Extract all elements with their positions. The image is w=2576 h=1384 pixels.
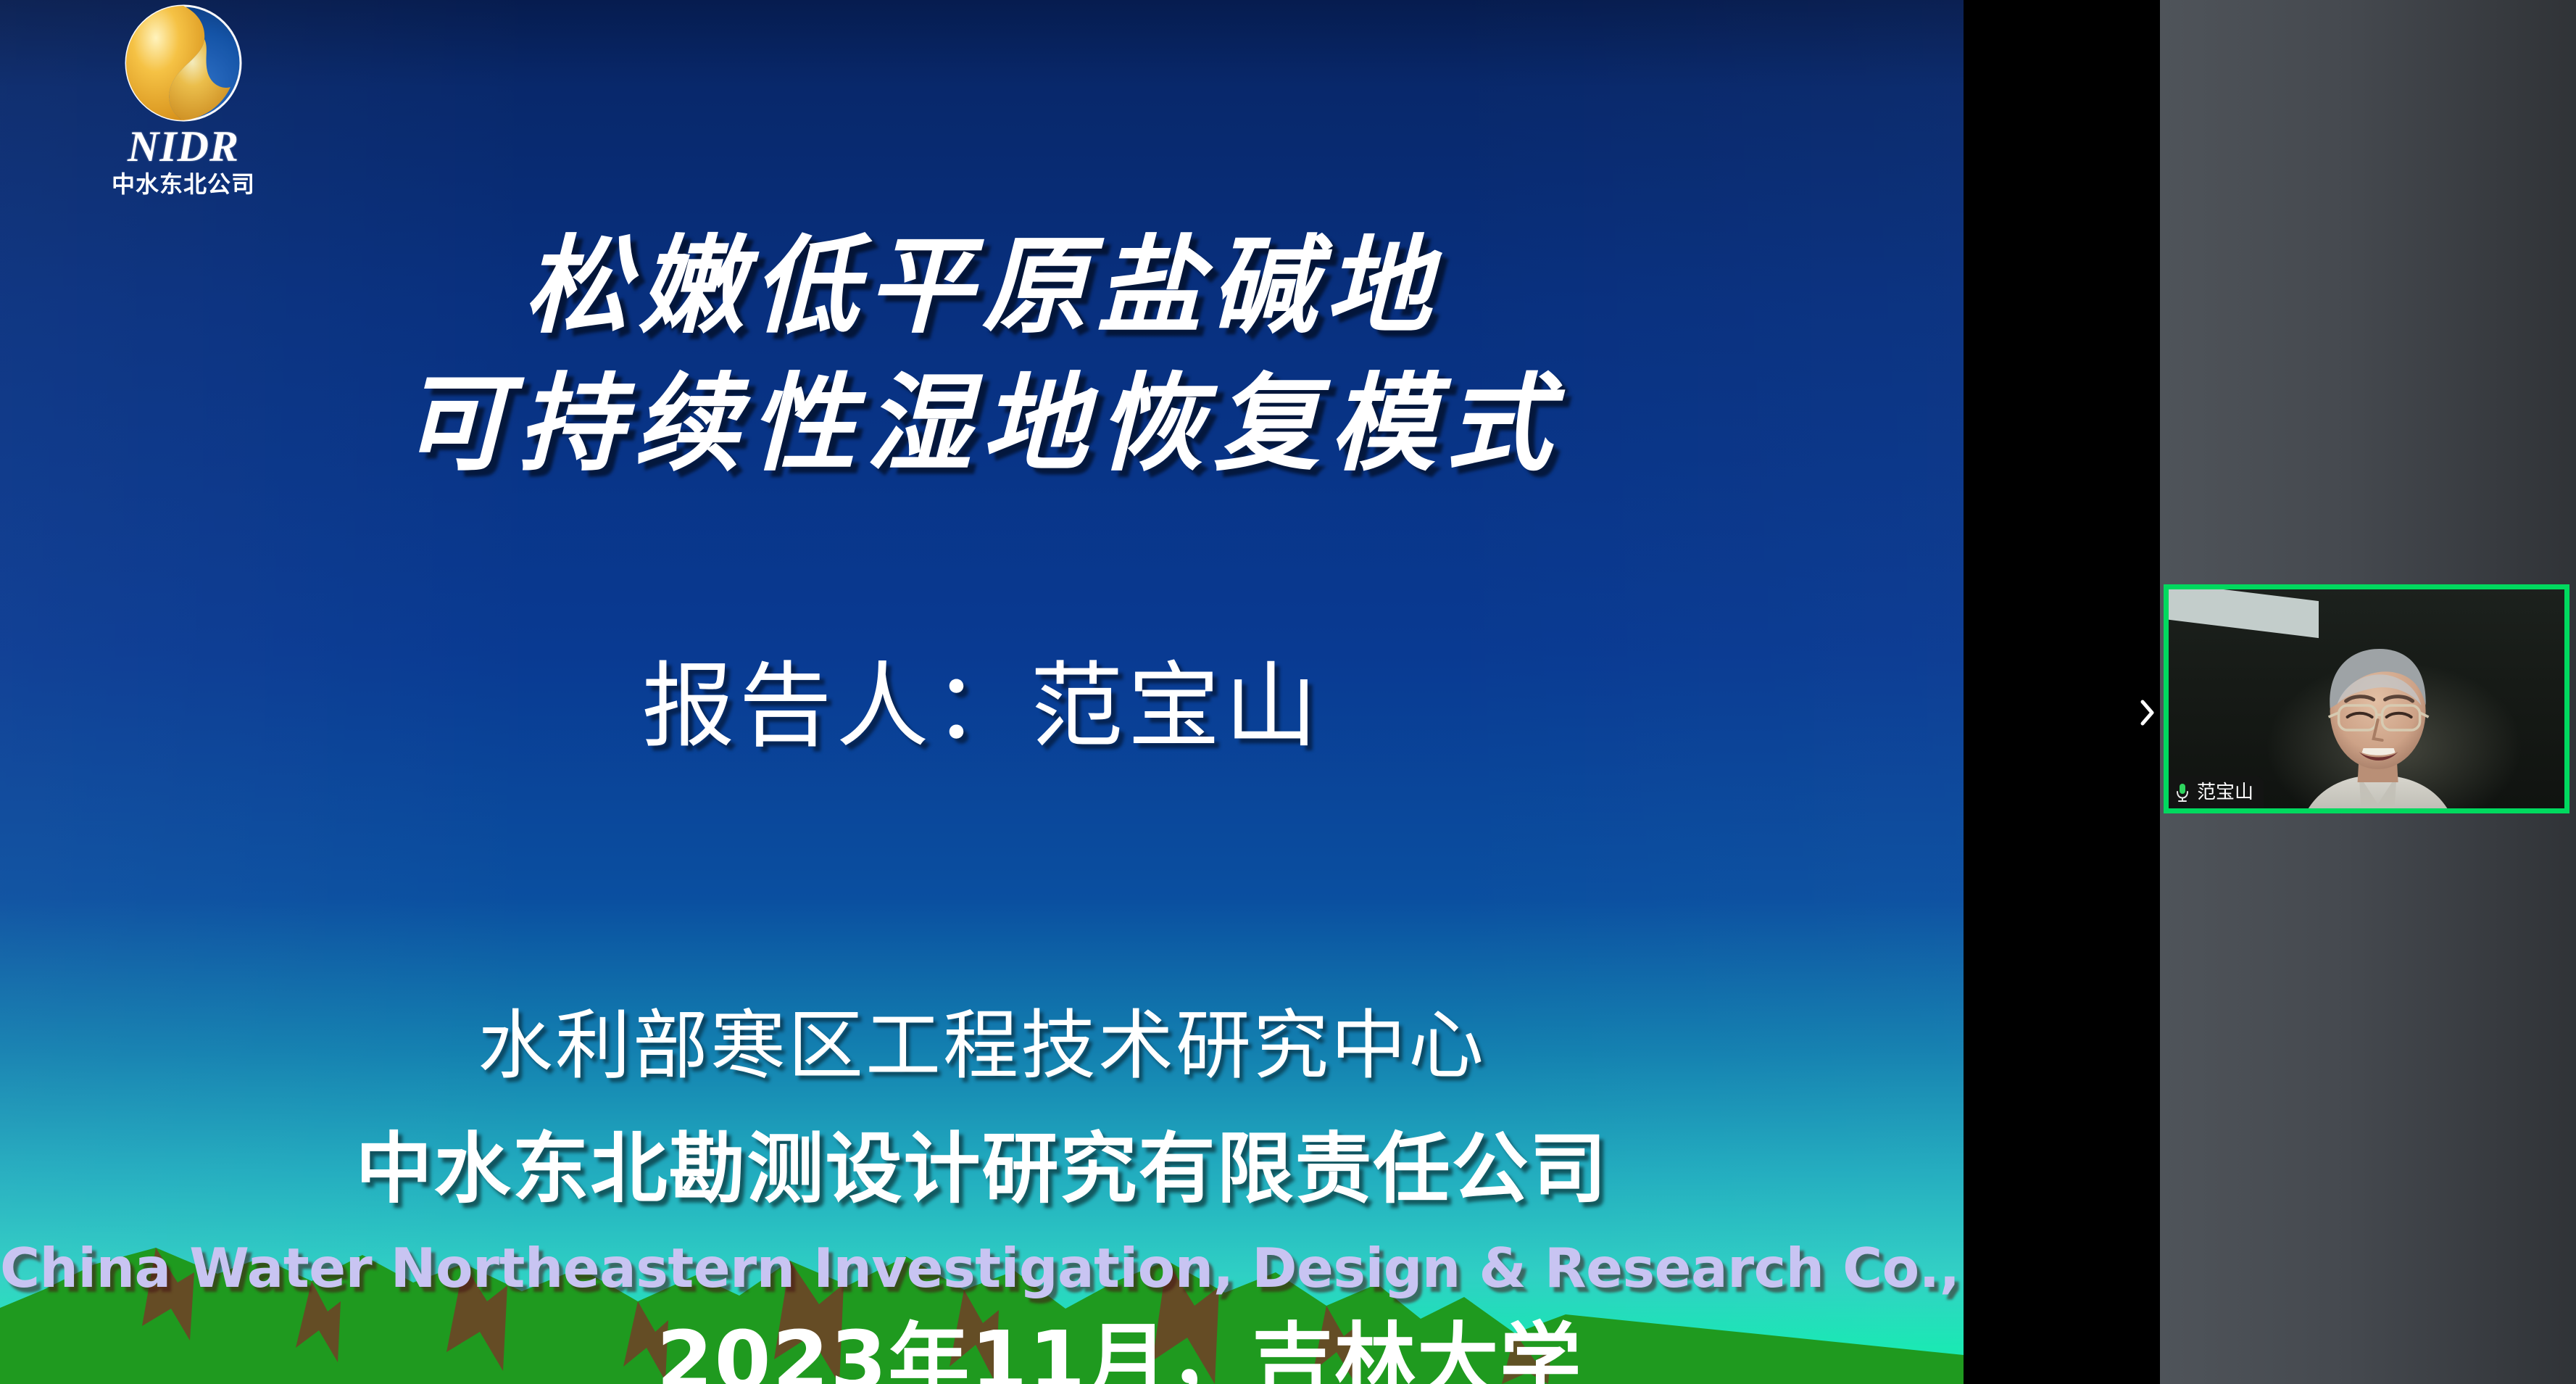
participant-webcam-image: [2284, 633, 2472, 813]
participant-name-badge: 范宝山: [2169, 776, 2264, 808]
slide-presenter-line: 报告人：范宝山: [0, 656, 1964, 758]
letterbox-gap: [1964, 0, 2160, 1384]
slide-org-line-1: 水利部寒区工程技术研究中心: [0, 1004, 1964, 1087]
video-feed: [2169, 589, 2564, 808]
slide-title: 松嫩低平原盐碱地 可持续性湿地恢复模式: [0, 217, 1964, 493]
chevron-right-icon: [2137, 698, 2156, 727]
participant-video-tile[interactable]: 范宝山: [2164, 584, 2569, 813]
microphone-icon[interactable]: [2174, 782, 2190, 803]
collapse-panel-button[interactable]: [2134, 694, 2160, 732]
background-wall: [2164, 584, 2319, 638]
slide-title-line-1: 松嫩低平原盐碱地: [0, 217, 1964, 355]
participant-name-label: 范宝山: [2197, 783, 2253, 802]
slide-org-line-2: 中水东北勘测设计研究有限责任公司: [0, 1127, 1964, 1212]
zoom-screen-share-window: NIDR 中水东北公司 松嫩低平原盐碱地 可持续性湿地恢复模式 报告人：范宝山 …: [0, 0, 2576, 1384]
logo-wordmark: NIDR: [86, 125, 281, 168]
logo-subtitle: 中水东北公司: [86, 173, 281, 196]
slide-title-line-2: 可持续性湿地恢复模式: [0, 355, 1964, 493]
nidr-logo: NIDR 中水东北公司: [86, 3, 281, 196]
shared-presentation-slide[interactable]: NIDR 中水东北公司 松嫩低平原盐碱地 可持续性湿地恢复模式 报告人：范宝山 …: [0, 0, 1964, 1384]
slide-date-venue: 2023年11月，吉林大学: [0, 1321, 1964, 1384]
slide-org-english: China Water Northeastern Investigation, …: [0, 1240, 1964, 1297]
nidr-globe-logo-icon: [123, 3, 244, 123]
